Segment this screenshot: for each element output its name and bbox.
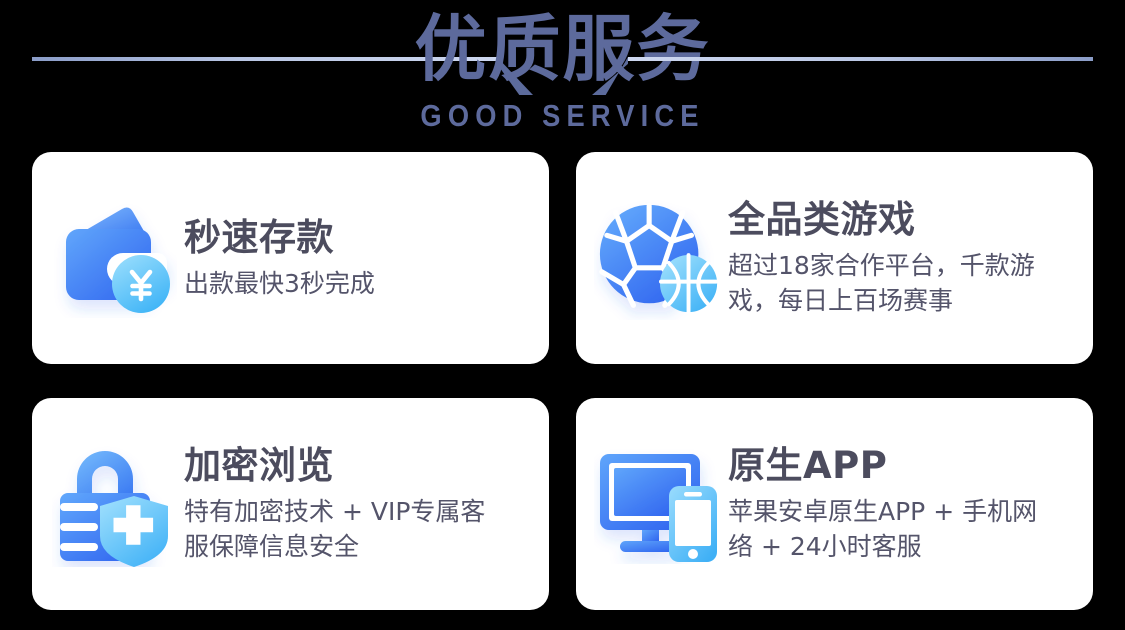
page-title: 优质服务 bbox=[0, 8, 1125, 90]
monitor-phone-icon bbox=[576, 398, 724, 610]
card-text: 原生APP 苹果安卓原生APP + 手机网络 + 24小时客服 bbox=[724, 444, 1093, 564]
card-text: 秒速存款 出款最快3秒完成 bbox=[180, 216, 549, 301]
card-title: 全品类游戏 bbox=[728, 198, 1079, 242]
feature-card[interactable]: 原生APP 苹果安卓原生APP + 手机网络 + 24小时客服 bbox=[576, 398, 1093, 610]
feature-card[interactable]: 全品类游戏 超过18家合作平台，千款游戏，每日上百场赛事 bbox=[576, 152, 1093, 364]
card-description: 超过18家合作平台，千款游戏，每日上百场赛事 bbox=[728, 248, 1046, 318]
soccer-basketball-icon bbox=[576, 152, 724, 364]
lock-shield-icon bbox=[32, 398, 180, 610]
card-text: 全品类游戏 超过18家合作平台，千款游戏，每日上百场赛事 bbox=[724, 198, 1093, 318]
feature-card-grid: 秒速存款 出款最快3秒完成 bbox=[32, 152, 1093, 598]
feature-card[interactable]: 加密浏览 特有加密技术 + VIP专属客服保障信息安全 bbox=[32, 398, 549, 610]
card-title: 加密浏览 bbox=[184, 444, 535, 488]
card-description: 特有加密技术 + VIP专属客服保障信息安全 bbox=[184, 494, 502, 564]
promo-banner: 优质服务 GOOD SERVICE bbox=[0, 0, 1125, 630]
feature-card[interactable]: 秒速存款 出款最快3秒完成 bbox=[32, 152, 549, 364]
card-title: 秒速存款 bbox=[184, 216, 535, 260]
divider-line-right bbox=[628, 57, 1093, 61]
card-description: 出款最快3秒完成 bbox=[184, 266, 535, 301]
card-description: 苹果安卓原生APP + 手机网络 + 24小时客服 bbox=[728, 494, 1046, 564]
card-text: 加密浏览 特有加密技术 + VIP专属客服保障信息安全 bbox=[180, 444, 549, 564]
page-subtitle: GOOD SERVICE bbox=[68, 99, 1058, 133]
card-title: 原生APP bbox=[728, 444, 1079, 488]
header: 优质服务 GOOD SERVICE bbox=[0, 0, 1125, 148]
wallet-yen-icon bbox=[32, 152, 180, 364]
